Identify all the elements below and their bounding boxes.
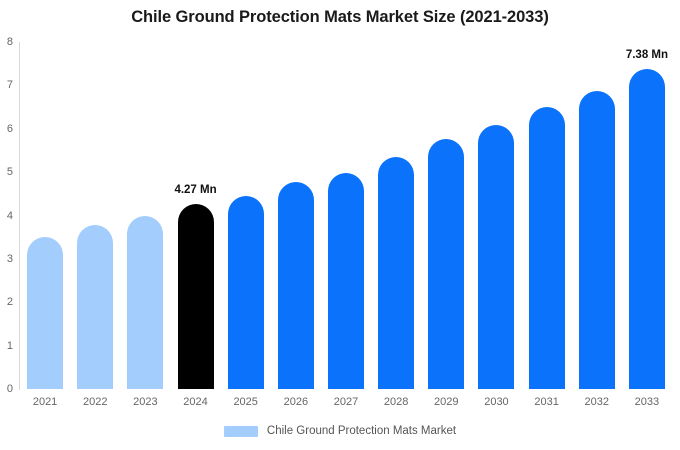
bar-slot	[278, 42, 314, 389]
chart-legend: Chile Ground Protection Mats Market	[0, 425, 680, 437]
x-axis-tick-label-2030: 2030	[471, 396, 521, 408]
bar-slot	[27, 42, 63, 389]
bar-2032[interactable]	[579, 91, 615, 389]
bar-value-label: 7.38 Mn	[626, 49, 668, 61]
bar-2021[interactable]	[27, 237, 63, 389]
bar-slot	[579, 42, 615, 389]
y-axis-tick-label: 5	[0, 166, 13, 178]
bar-2028[interactable]	[378, 157, 414, 389]
chart-title: Chile Ground Protection Mats Market Size…	[0, 8, 680, 27]
bar-2022[interactable]	[77, 225, 113, 389]
bar-slot	[77, 42, 113, 389]
x-axis-tick-label-2033: 2033	[622, 396, 672, 408]
x-axis-tick-label-2024: 2024	[170, 396, 220, 408]
y-axis-tick-label: 6	[0, 123, 13, 135]
x-axis-tick-label-2031: 2031	[522, 396, 572, 408]
bar-2029[interactable]	[428, 139, 464, 389]
y-axis-tick-label: 4	[0, 210, 13, 222]
bar-slot	[378, 42, 414, 389]
bar-slot: 4.27 Mn	[178, 42, 214, 389]
y-axis-tick-label: 7	[0, 79, 13, 91]
y-axis-tick-label: 2	[0, 296, 13, 308]
y-axis-tick-label: 0	[0, 383, 13, 395]
bar-slot	[529, 42, 565, 389]
bar-slot	[228, 42, 264, 389]
x-axis-tick-label-2022: 2022	[70, 396, 120, 408]
y-axis-tick-label: 3	[0, 253, 13, 265]
x-axis-tick-label-2025: 2025	[221, 396, 271, 408]
bar-2033[interactable]	[629, 69, 665, 389]
bar-slot	[328, 42, 364, 389]
bar-value-label: 4.27 Mn	[174, 184, 216, 196]
bar-2025[interactable]	[228, 196, 264, 389]
bar-2023[interactable]	[127, 216, 163, 389]
x-axis-tick-label-2029: 2029	[421, 396, 471, 408]
y-axis-tick-label: 1	[0, 340, 13, 352]
x-axis-tick-label-2026: 2026	[271, 396, 321, 408]
x-axis-tick-label-2028: 2028	[371, 396, 421, 408]
y-axis-tick-label: 8	[0, 36, 13, 48]
legend-item-label: Chile Ground Protection Mats Market	[267, 425, 456, 437]
bar-2030[interactable]	[478, 125, 514, 389]
bar-slot	[478, 42, 514, 389]
legend-swatch-icon	[224, 426, 258, 437]
bar-slot: 7.38 Mn	[629, 42, 665, 389]
x-axis-tick-label-2021: 2021	[20, 396, 70, 408]
x-axis-tick-label-2023: 2023	[120, 396, 170, 408]
chart-container: Chile Ground Protection Mats Market Size…	[0, 0, 680, 450]
bar-2031[interactable]	[529, 107, 565, 389]
x-axis-tick-label-2027: 2027	[321, 396, 371, 408]
bar-slot	[127, 42, 163, 389]
bar-2026[interactable]	[278, 182, 314, 389]
bar-slot	[428, 42, 464, 389]
plot-area: 4.27 Mn7.38 Mn	[20, 42, 672, 389]
bar-2027[interactable]	[328, 173, 364, 389]
bar-2024[interactable]	[178, 204, 214, 389]
x-axis-tick-label-2032: 2032	[572, 396, 622, 408]
